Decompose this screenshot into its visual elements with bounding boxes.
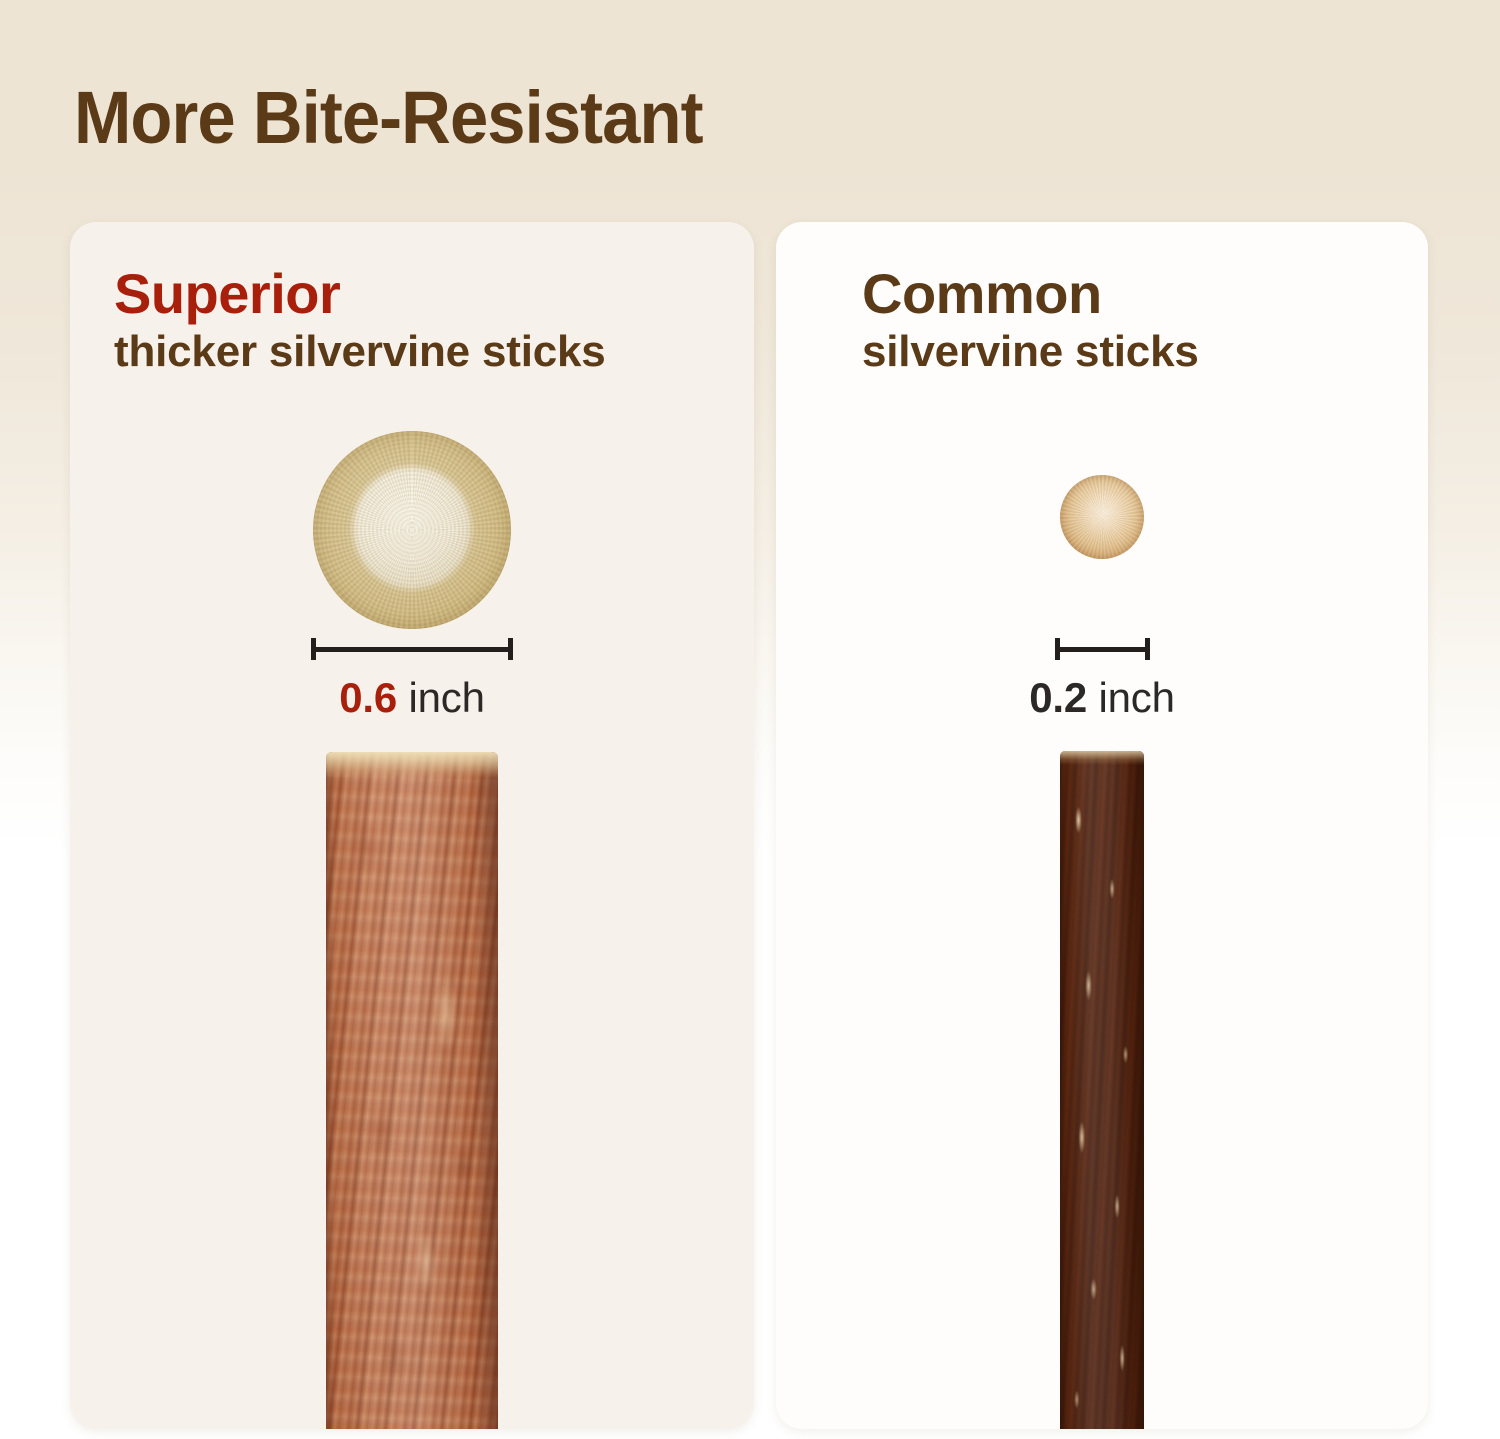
- thin-stick-cross-section: [1060, 475, 1144, 559]
- ruler-line: [1055, 647, 1150, 652]
- panel-common: Common silvervine sticks 0.2 inch: [776, 222, 1428, 1429]
- thick-silvervine-stick: [326, 752, 498, 1429]
- ruler-tick-right-icon: [1145, 638, 1150, 660]
- panel-superior-heading-sub: thicker silvervine sticks: [114, 326, 606, 378]
- panel-common-heading-sub: silvervine sticks: [862, 326, 1199, 378]
- page-background: More Bite-Resistant Superior thicker sil…: [0, 0, 1500, 1439]
- panel-superior-heading: Superior thicker silvervine sticks: [114, 264, 606, 378]
- ruler-tick-right-icon: [508, 638, 513, 660]
- thick-stick-cross-section: [313, 431, 511, 629]
- diameter-ruler-common: [1055, 638, 1150, 660]
- ruler-tick-left-icon: [311, 638, 316, 660]
- diameter-value-common: 0.2: [1029, 674, 1087, 721]
- diameter-caption-common: 0.2 inch: [1029, 674, 1175, 722]
- diameter-caption-superior: 0.6 inch: [339, 674, 485, 722]
- diameter-unit-common: inch: [1099, 674, 1175, 721]
- panel-common-disc-area: [776, 475, 1428, 559]
- panel-superior-measurement: 0.6 inch: [70, 638, 754, 722]
- ruler-tick-left-icon: [1055, 638, 1060, 660]
- diameter-unit-superior: inch: [409, 674, 485, 721]
- panel-common-heading-main: Common: [862, 264, 1199, 324]
- ruler-line: [311, 647, 513, 652]
- diameter-ruler-superior: [311, 638, 513, 660]
- panel-common-measurement: 0.2 inch: [776, 638, 1428, 722]
- panel-superior-disc-area: [70, 431, 754, 629]
- panel-superior-heading-main: Superior: [114, 264, 606, 324]
- panel-common-stick-area: [776, 751, 1428, 1429]
- page-title: More Bite-Resistant: [74, 78, 703, 158]
- panel-superior: Superior thicker silvervine sticks 0.6 i…: [70, 222, 754, 1429]
- comparison-panels: Superior thicker silvervine sticks 0.6 i…: [70, 222, 1428, 1429]
- panel-superior-stick-area: [70, 752, 754, 1429]
- diameter-value-superior: 0.6: [339, 674, 397, 721]
- thin-silvervine-stick: [1060, 751, 1144, 1429]
- panel-common-heading: Common silvervine sticks: [862, 264, 1199, 378]
